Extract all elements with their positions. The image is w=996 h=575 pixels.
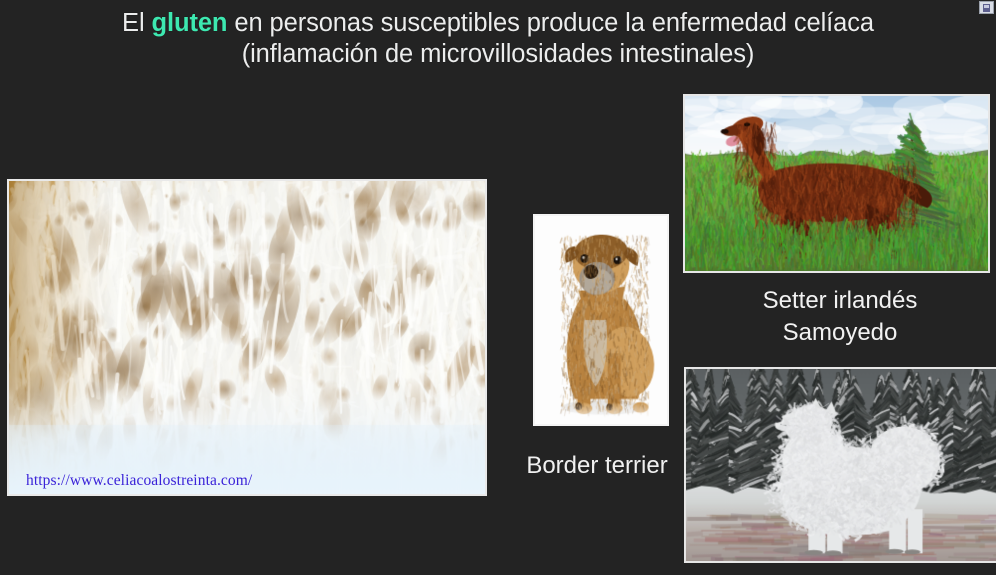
- samoyed-canvas: [686, 369, 996, 561]
- title-keyword-gluten: gluten: [152, 9, 228, 37]
- gluten-micrograph-canvas: [9, 181, 485, 494]
- slide-thumbnail-icon[interactable]: [979, 1, 994, 14]
- gluten-micrograph-image: [7, 179, 487, 496]
- irish-setter-image: [683, 94, 990, 273]
- breed-label-group: Setter irlandés Samoyedo: [690, 285, 990, 349]
- title-line-1: El gluten en personas susceptibles produ…: [0, 8, 996, 39]
- source-url-text: https://www.celiacoalostreinta.com/: [26, 472, 252, 490]
- border-terrier-label: Border terrier: [497, 452, 697, 480]
- border-terrier-canvas: [535, 216, 667, 424]
- presentation-slide: El gluten en personas susceptibles produ…: [0, 0, 996, 575]
- border-terrier-image: [533, 214, 669, 426]
- irish-setter-label: Setter irlandés: [690, 285, 990, 317]
- title-suffix: en personas susceptibles produce la enfe…: [227, 9, 874, 37]
- samoyed-label: Samoyedo: [690, 317, 990, 349]
- samoyed-image: [684, 367, 996, 563]
- slide-thumbnail-highlight: [984, 5, 989, 8]
- title-line-2: (inflamación de microvillosidades intest…: [0, 39, 996, 70]
- irish-setter-canvas: [685, 96, 988, 271]
- slide-title: El gluten en personas susceptibles produ…: [0, 8, 996, 70]
- title-prefix: El: [122, 9, 151, 37]
